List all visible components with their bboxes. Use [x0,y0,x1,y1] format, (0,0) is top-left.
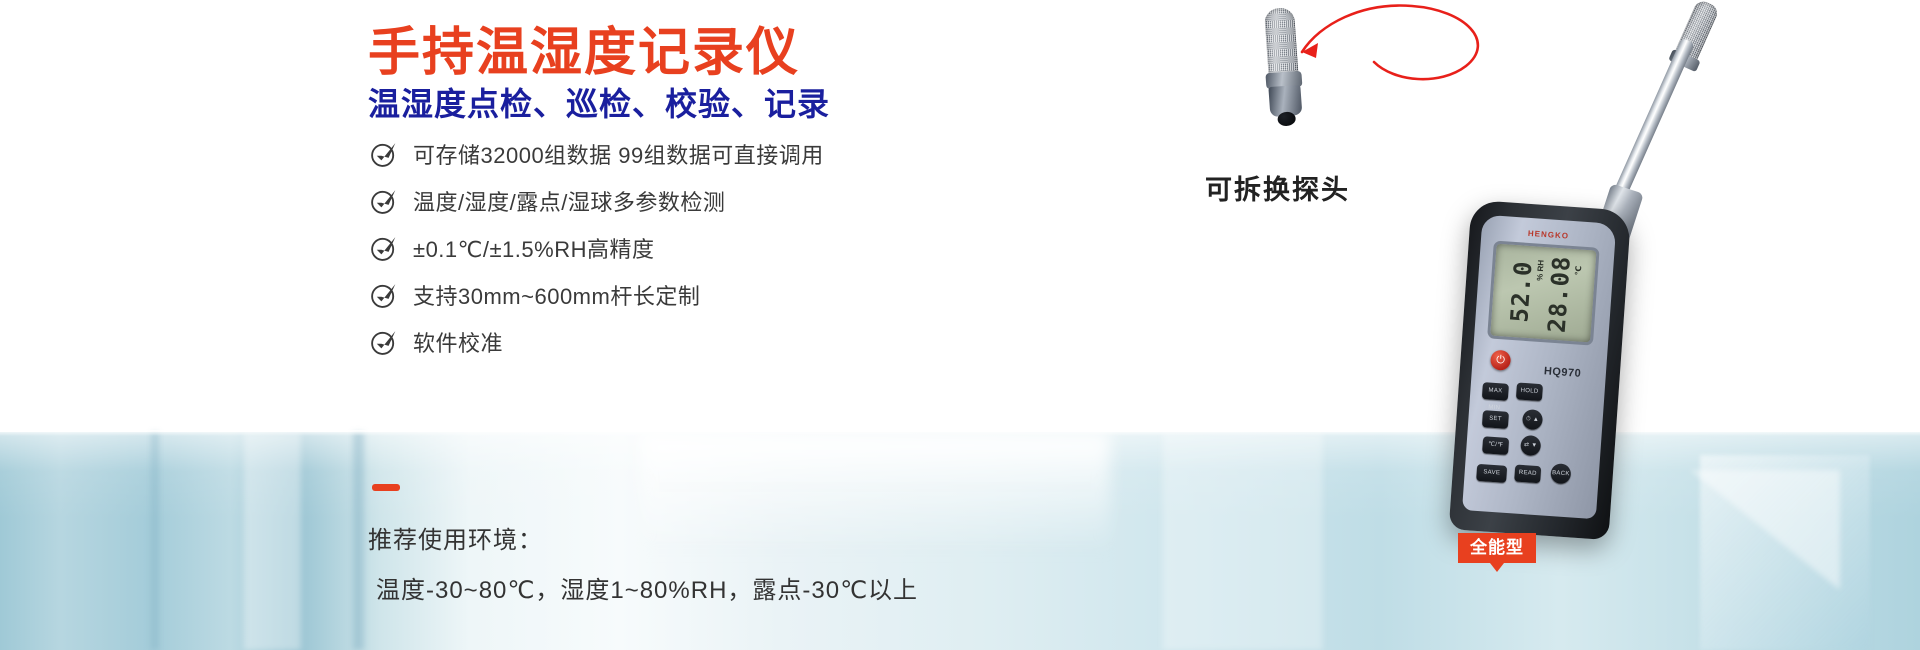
list-item-label: 可存储32000组数据 99组数据可直接调用 [413,138,824,170]
circled-check-icon [370,188,397,215]
key-maxmin[interactable]: MAX MIN [1482,382,1509,401]
probe-connector-tip [1277,111,1296,126]
key-hold[interactable]: HOLD [1516,382,1543,401]
background-highlight [640,432,1110,552]
product-banner: 手持温湿度记录仪 温湿度点检、巡检、校验、记录 可存储32000组数据 99组数… [0,0,1920,650]
list-item: 支持30mm~600mm杆长定制 [370,273,1130,317]
list-item-label: 支持30mm~600mm杆长定制 [413,279,700,311]
circled-check-icon [370,235,397,262]
page-subtitle: 温湿度点检、巡检、校验、记录 [368,79,830,125]
meter-housing: HENGKO 52.0 % RH 28.08 ℃ ⏻ HQ970 MAX MIN… [1449,200,1632,540]
lcd-rotated-readout: 52.0 % RH 28.08 ℃ [1494,244,1593,343]
circled-check-icon [370,329,397,356]
model-label: HQ970 [1544,365,1582,380]
environment-title: 推荐使用环境： [368,520,543,555]
list-item-label: ±0.1℃/±1.5%RH高精度 [413,232,654,264]
key-set[interactable]: SET [1482,410,1509,429]
list-item: 可存储32000组数据 99组数据可直接调用 [370,132,1130,176]
humidity-reading: 52.0 [1504,244,1539,343]
key-save[interactable]: SAVE [1476,464,1507,483]
key-up[interactable]: ⏱ ▲ [1522,409,1543,430]
probe-caption: 可拆换探头 [1205,168,1350,207]
key-down[interactable]: ⇄ ▼ [1520,435,1541,456]
list-item: 温度/湿度/露点/湿球多参数检测 [370,179,1130,223]
environment-detail: 温度-30~80℃，湿度1~80%RH，露点-30℃以上 [376,570,918,605]
key-unit[interactable]: ℃/℉ [1482,436,1509,455]
accent-dash [372,484,400,491]
status-badge: 全能型 [1458,533,1536,563]
power-icon[interactable]: ⏻ [1490,350,1511,371]
list-item: ±0.1℃/±1.5%RH高精度 [370,226,1130,270]
keypad: MAX MIN HOLD ⏱ ▲ SET ⇄ ▼ ℃/℉ SAVE READ B… [1473,380,1597,506]
brand-logo: HENGKO [1521,227,1576,242]
key-read[interactable]: READ [1514,465,1541,484]
circled-check-icon [370,141,397,168]
key-back[interactable]: BACK [1550,463,1571,484]
temperature-unit: ℃ [1574,265,1584,275]
meter-front-panel: HENGKO 52.0 % RH 28.08 ℃ ⏻ HQ970 MAX MIN… [1462,215,1616,520]
feature-list: 可存储32000组数据 99组数据可直接调用 温度/湿度/露点/湿球多参数检测 … [370,132,1130,367]
list-item: 软件校准 [370,320,1130,364]
page-title: 手持温湿度记录仪 [368,10,800,85]
lcd-display: 52.0 % RH 28.08 ℃ [1490,244,1596,343]
product-image: HENGKO 52.0 % RH 28.08 ℃ ⏻ HQ970 MAX MIN… [1400,0,1740,550]
humidity-unit: % RH [1535,260,1545,281]
list-item-label: 软件校准 [413,326,503,358]
list-item-label: 温度/湿度/露点/湿球多参数检测 [413,185,725,217]
circled-check-icon [370,282,397,309]
temperature-reading: 28.08 [1542,244,1577,343]
